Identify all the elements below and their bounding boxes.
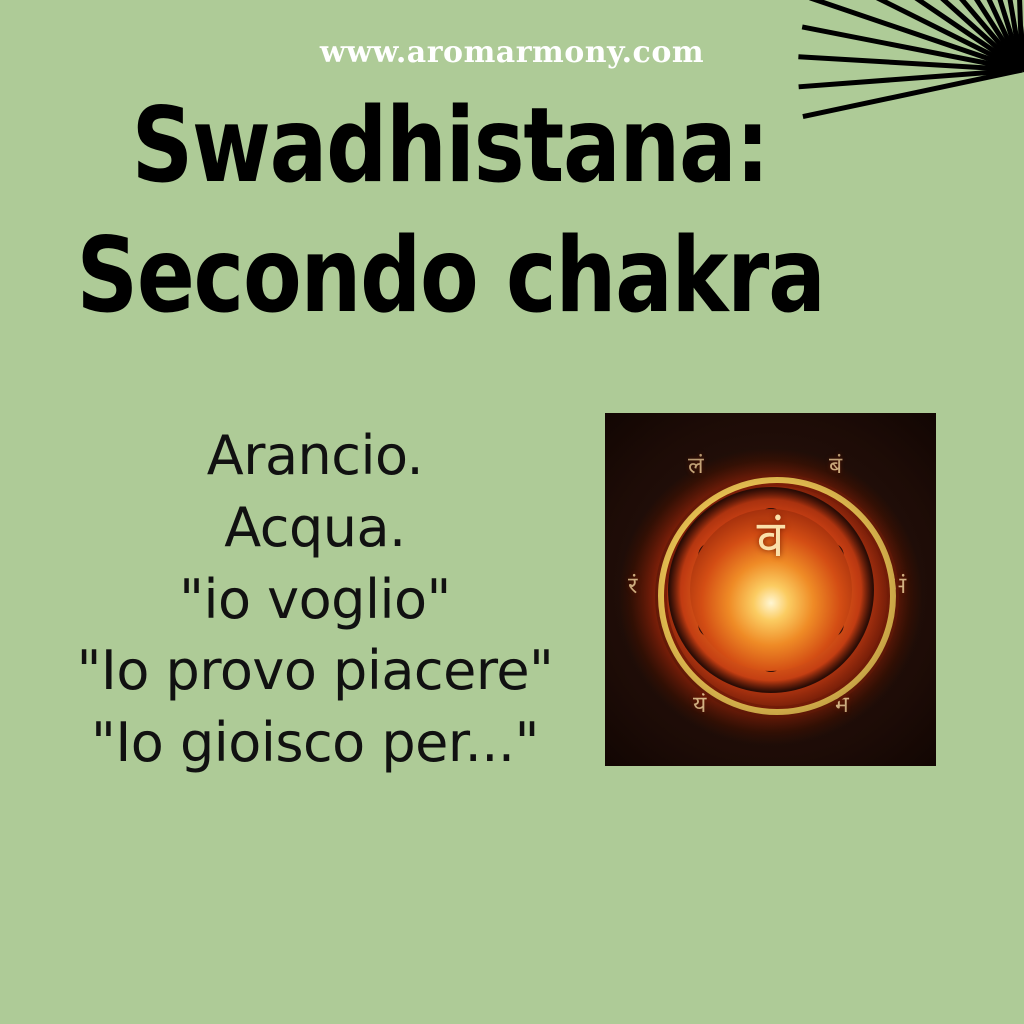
- body-line-color: Arancio.: [40, 420, 590, 492]
- page-title: Swadhistana: Secondo chakra: [0, 82, 900, 342]
- body-line-element: Acqua.: [40, 492, 590, 564]
- page-title-line-1: Swadhistana:: [77, 82, 824, 212]
- page-title-line-2: Secondo chakra: [77, 212, 824, 342]
- site-url-text: www.aromarmony.com: [0, 35, 1024, 70]
- chakra-mandala-image: बं भं मं यं रं लं वं: [605, 413, 936, 766]
- body-line-affirmation-3: "Io gioisco per...": [40, 707, 590, 779]
- poster-canvas: www.aromarmony.com Swadhistana: Secondo …: [0, 0, 1024, 1024]
- vignette-overlay: [605, 413, 936, 766]
- body-copy: Arancio. Acqua. "io voglio" "Io provo pi…: [40, 420, 590, 779]
- body-line-affirmation-1: "io voglio": [40, 564, 590, 636]
- chakra-art-backdrop: बं भं मं यं रं लं वं: [605, 413, 936, 766]
- body-line-affirmation-2: "Io provo piacere": [40, 635, 590, 707]
